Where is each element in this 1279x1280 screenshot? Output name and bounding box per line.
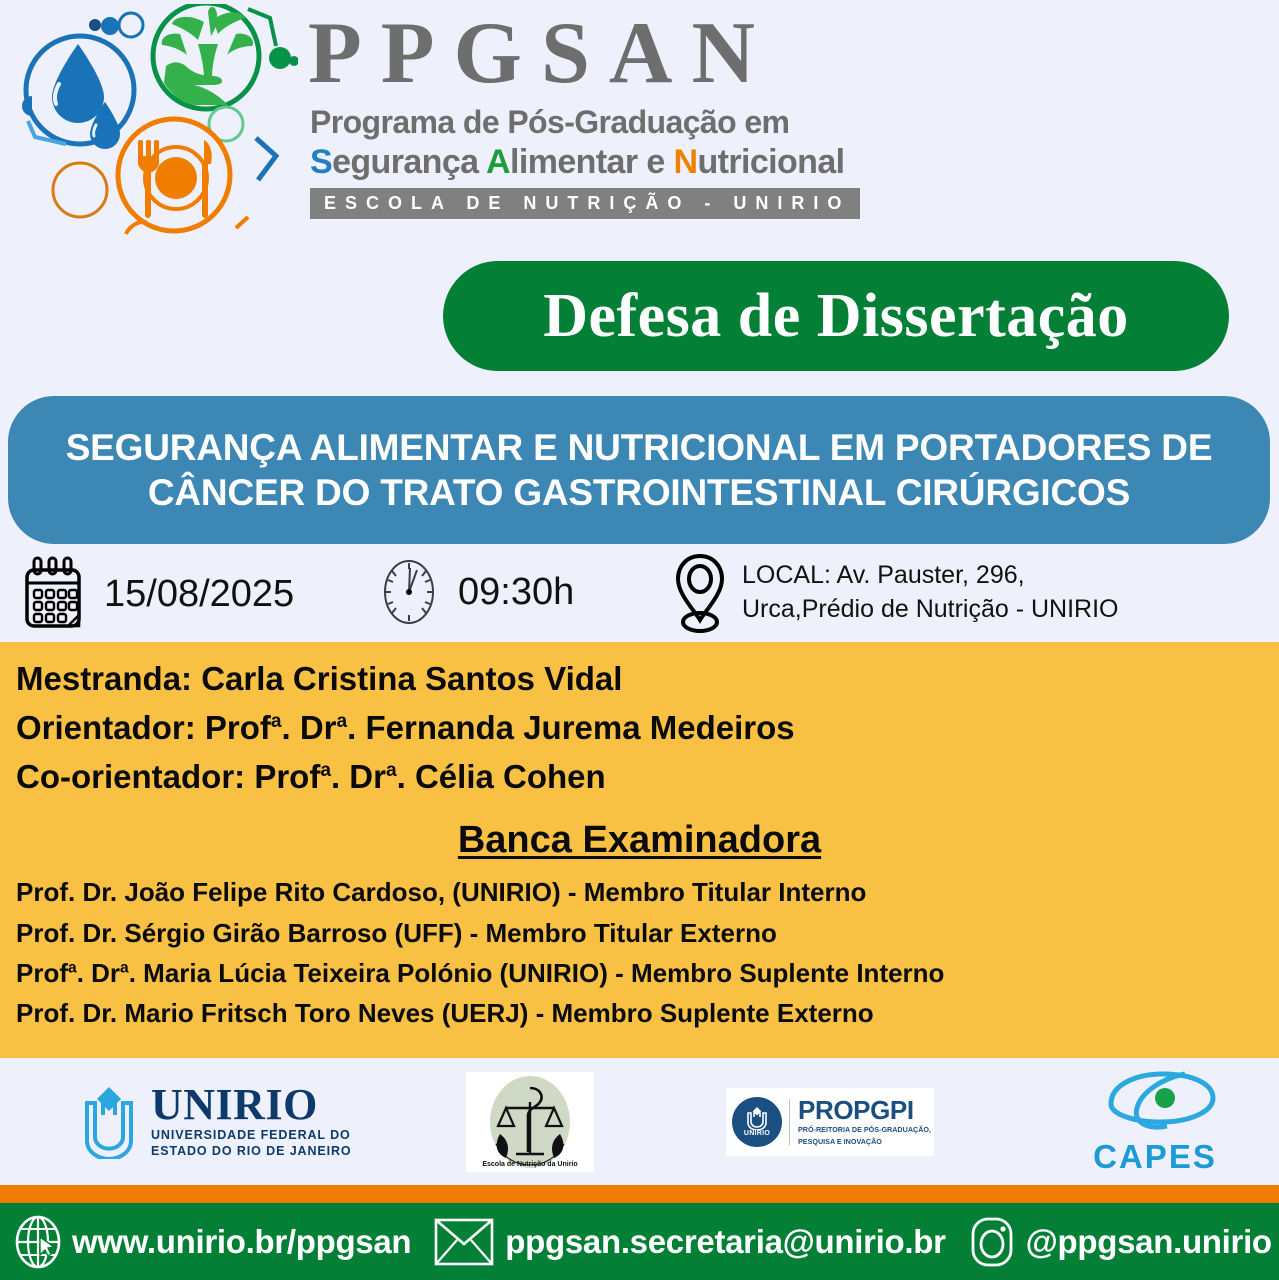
student-label: Mestranda: — [16, 660, 201, 697]
program-acronym: PPGSAN — [308, 10, 860, 98]
clock-icon — [380, 556, 438, 628]
propgpi-subtitle-line-2: PESQUISA E INOVAÇÃO — [798, 1137, 931, 1147]
advisor-label: Orientador: Prof — [16, 709, 271, 746]
unirio-subtitle-line-1: UNIVERSIDADE FEDERAL DO — [151, 1128, 352, 1144]
advisor-name: . Fernanda Jurema Medeiros — [347, 709, 794, 746]
svg-text:Escola de Nutrição da Unirio: Escola de Nutrição da Unirio — [482, 1161, 577, 1168]
ppgsan-logo-graphic — [8, 4, 298, 244]
unirio-logo: UNIRIO UNIVERSIDADE FEDERAL DO ESTADO DO… — [75, 1058, 365, 1185]
letter-s: S — [310, 143, 332, 181]
letter-n: N — [673, 143, 697, 181]
capes-name: CAPES — [1093, 1138, 1217, 1176]
email-icon — [433, 1216, 495, 1268]
board-member-2: Prof. Dr. Sérgio Girão Barroso (UFF) - M… — [16, 913, 1279, 953]
propgpi-seal-text: UNIRIO — [744, 1130, 770, 1137]
board-member-3-sup-1: a — [68, 959, 77, 976]
escola-nutricao-seal: Escola de Nutrição da Unirio — [466, 1072, 594, 1172]
propgpi-subtitle-line-1: PRÓ-REITORIA DE PÓS-GRADUAÇÃO, — [798, 1125, 931, 1135]
school-bar: ESCOLA DE NUTRIÇÃO - UNIRIO — [310, 188, 860, 219]
location-pin-icon — [672, 552, 728, 634]
poster-root: PPGSAN Programa de Pós-Graduação em Segu… — [0, 0, 1279, 1280]
propgpi-wordmark: PROPGPI PRÓ-REITORIA DE PÓS-GRADUAÇÃO, P… — [798, 1097, 931, 1146]
thesis-title-line-2: CÂNCER DO TRATO GASTROINTESTINAL CIRÚRGI… — [148, 470, 1130, 515]
logo-svg — [8, 4, 298, 244]
propgpi-seal-icon: UNIRIO — [732, 1097, 782, 1147]
coadvisor-mid: . Dr — [331, 758, 386, 795]
board-member-3-rest: . Maria Lúcia Teixeira Polónio (UNIRIO) … — [129, 958, 945, 988]
event-location-text: LOCAL: Av. Pauster, 296, Urca,Prédio de … — [728, 559, 1119, 627]
event-type-label: Defesa de Dissertação — [543, 281, 1129, 352]
event-location-line-1: LOCAL: Av. Pauster, 296, — [742, 559, 1119, 593]
propgpi-logo: UNIRIO PROPGPI PRÓ-REITORIA DE PÓS-GRADU… — [726, 1058, 934, 1185]
advisor-sup-2: a — [337, 711, 348, 732]
word-seguranca: egurança — [332, 143, 486, 181]
coadvisor-sup-1: a — [320, 760, 331, 781]
website-text: www.unirio.br/ppgsan — [72, 1223, 411, 1261]
capes-logo: CAPES — [1085, 1058, 1225, 1185]
thesis-title-banner: SEGURANÇA ALIMENTAR E NUTRICIONAL EM POR… — [8, 396, 1270, 544]
event-location-line-2: Urca,Prédio de Nutrição - UNIRIO — [742, 593, 1119, 627]
email-item[interactable]: ppgsan.secretaria@unirio.br — [433, 1216, 945, 1268]
board-member-3: Profa. Dra. Maria Lúcia Teixeira Polónio… — [16, 953, 1279, 993]
unirio-mark-icon — [75, 1085, 143, 1159]
event-date-value: 15/08/2025 — [104, 573, 294, 616]
word-nutricional: utricional — [697, 143, 844, 181]
email-text: ppgsan.secretaria@unirio.br — [505, 1223, 945, 1261]
letter-a: A — [486, 143, 510, 181]
propgpi-unirio-symbol — [744, 1106, 770, 1130]
instagram-item[interactable]: @ppgsan.unirio — [968, 1215, 1272, 1269]
program-line-2: Segurança Alimentar e Nutricional — [310, 143, 860, 182]
board-title: Banca Examinadora — [0, 819, 1279, 862]
contact-footer: www.unirio.br/ppgsan ppgsan.secretaria@u… — [0, 1203, 1279, 1280]
sponsor-logo-strip: UNIRIO UNIVERSIDADE FEDERAL DO ESTADO DO… — [0, 1058, 1279, 1185]
unirio-subtitle-line-2: ESTADO DO RIO DE JANEIRO — [151, 1144, 352, 1160]
brand-block: PPGSAN Programa de Pós-Graduação em Segu… — [300, 4, 860, 242]
globe-icon — [14, 1215, 62, 1269]
event-date-item: 15/08/2025 — [22, 556, 294, 632]
board-member-1: Prof. Dr. João Felipe Rito Cardoso, (UNI… — [16, 872, 1279, 912]
advisor-sup-1: a — [271, 711, 282, 732]
advisor-row: Orientador: Profa. Dra. Fernanda Jurema … — [16, 703, 1279, 752]
escola-nutricao-seal-svg: Escola de Nutrição da Unirio — [466, 1072, 594, 1172]
calendar-icon — [22, 556, 84, 632]
word-alimentar: limentar e — [510, 143, 673, 181]
student-name: Carla Cristina Santos Vidal — [201, 660, 622, 697]
event-type-banner: Defesa de Dissertação — [443, 261, 1229, 371]
event-time-item: 09:30h — [380, 556, 574, 628]
board-member-3-mid: . Dr — [77, 958, 120, 988]
advisor-mid: . Dr — [282, 709, 337, 746]
coadvisor-sup-2: a — [386, 760, 397, 781]
coadvisor-name: . Célia Cohen — [397, 758, 606, 795]
unirio-symbol-svg — [75, 1085, 143, 1159]
coadvisor-row: Co-orientador: Profa. Dra. Célia Cohen — [16, 752, 1279, 801]
participants-section: Mestranda: Carla Cristina Santos Vidal O… — [0, 642, 1279, 1058]
website-item[interactable]: www.unirio.br/ppgsan — [14, 1215, 411, 1269]
participants-list: Mestranda: Carla Cristina Santos Vidal O… — [0, 642, 1279, 801]
propgpi-box: UNIRIO PROPGPI PRÓ-REITORIA DE PÓS-GRADU… — [726, 1088, 934, 1156]
board-member-3-sup-2: a — [120, 959, 129, 976]
instagram-text: @ppgsan.unirio — [1026, 1223, 1272, 1261]
orange-divider — [0, 1185, 1279, 1203]
unirio-subtitle: UNIVERSIDADE FEDERAL DO ESTADO DO RIO DE… — [151, 1128, 352, 1159]
student-row: Mestranda: Carla Cristina Santos Vidal — [16, 654, 1279, 703]
poster-header: PPGSAN Programa de Pós-Graduação em Segu… — [0, 0, 1279, 245]
capes-symbol-icon — [1089, 1068, 1221, 1140]
coadvisor-label: Co-orientador: Prof — [16, 758, 320, 795]
instagram-icon — [968, 1215, 1016, 1269]
propgpi-name: PROPGPI — [798, 1097, 931, 1123]
unirio-name: UNIRIO — [151, 1084, 352, 1126]
propgpi-divider — [789, 1099, 790, 1145]
thesis-title-line-1: SEGURANÇA ALIMENTAR E NUTRICIONAL EM POR… — [66, 425, 1213, 470]
unirio-wordmark: UNIRIO UNIVERSIDADE FEDERAL DO ESTADO DO… — [151, 1084, 352, 1160]
event-time-value: 09:30h — [458, 571, 574, 614]
event-location-item: LOCAL: Av. Pauster, 296, Urca,Prédio de … — [672, 552, 1119, 634]
board-members: Prof. Dr. João Felipe Rito Cardoso, (UNI… — [0, 872, 1279, 1033]
escola-nutricao-logo: Escola de Nutrição da Unirio — [466, 1058, 594, 1185]
board-member-4: Prof. Dr. Mario Fritsch Toro Neves (UERJ… — [16, 993, 1279, 1033]
board-member-3-prefix: Prof — [16, 958, 68, 988]
event-info-row: 15/08/2025 — [0, 552, 1279, 642]
program-line-1: Programa de Pós-Graduação em — [310, 104, 860, 141]
